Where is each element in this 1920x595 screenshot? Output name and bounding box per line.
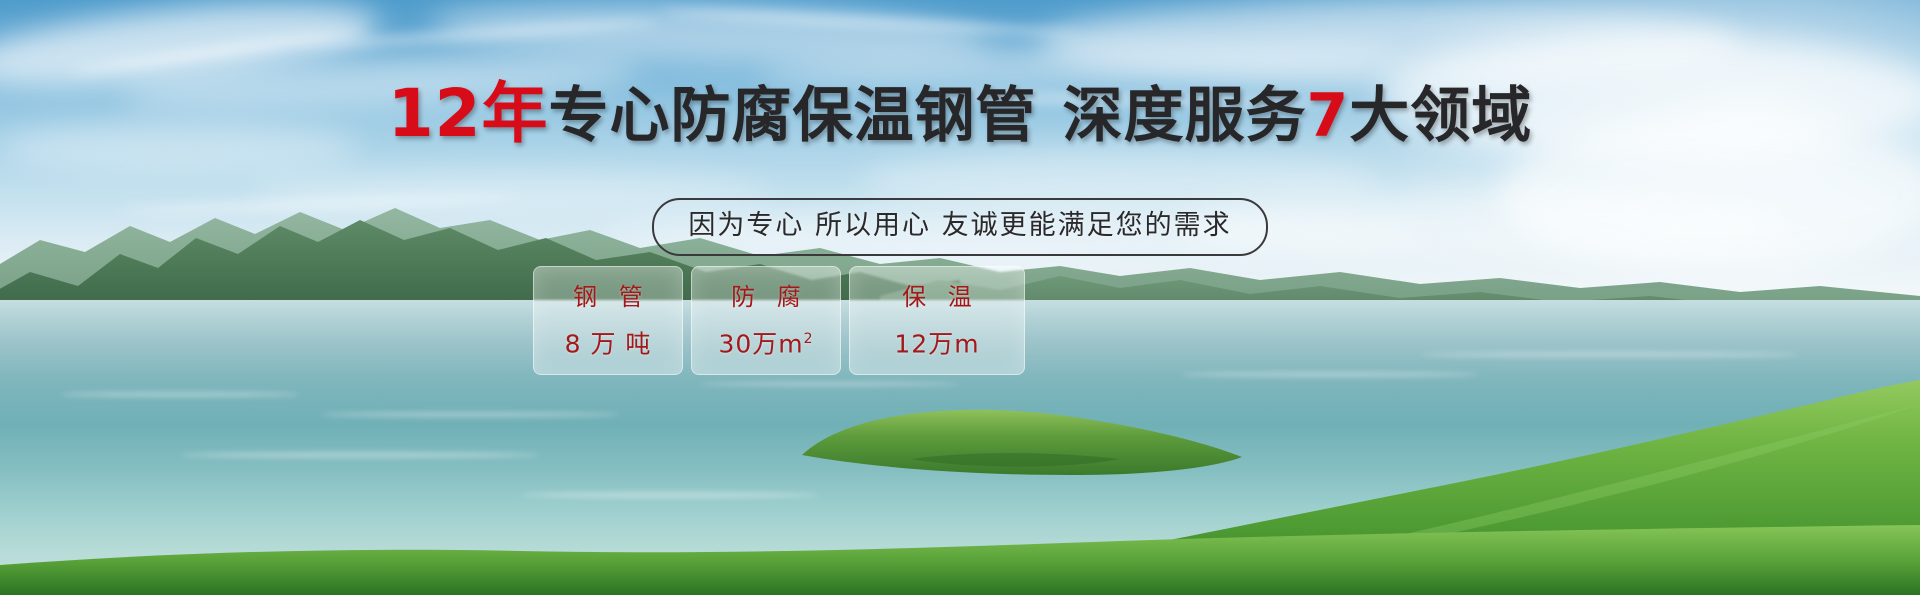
grass-foreground-icon	[0, 525, 1920, 595]
stat-card[interactable]: 钢 管 8 万 吨	[533, 266, 683, 375]
water-ripple	[1180, 372, 1480, 377]
water-ripple	[320, 412, 620, 417]
headline-years-number: 12	[388, 75, 482, 152]
stat-card-superscript: 2	[804, 331, 814, 347]
stat-card-value: 8 万 吨	[565, 324, 652, 359]
stat-card-title: 钢 管	[566, 282, 650, 312]
stat-card-value-text: 30万m	[718, 329, 803, 358]
stat-card-value: 30万m2	[718, 324, 813, 359]
water-ripple	[520, 492, 820, 498]
subtitle-container: 因为专心 所以用心 友诚更能满足您的需求	[0, 198, 1920, 256]
hero-banner: 12年专心防腐保温钢管深度服务7大领域 因为专心 所以用心 友诚更能满足您的需求…	[0, 0, 1920, 595]
stat-card[interactable]: 防 腐 30万m2	[691, 266, 841, 375]
stat-card-title: 保 温	[895, 282, 979, 312]
subtitle-pill: 因为专心 所以用心 友诚更能满足您的需求	[652, 198, 1267, 256]
water-ripple	[700, 382, 960, 386]
headline-fields-number: 7	[1307, 81, 1350, 151]
stat-card-value: 12万m	[894, 324, 979, 359]
stat-card-title: 防 腐	[724, 282, 808, 312]
stat-card-value-text: 12万m	[894, 329, 979, 358]
headline-part-three: 大领域	[1349, 81, 1532, 151]
water-ripple	[1420, 352, 1800, 357]
headline-years-unit: 年	[482, 75, 549, 152]
stat-card-group: 钢 管 8 万 吨 防 腐 30万m2 保 温 12万m	[533, 266, 1025, 375]
headline-part-two: 深度服务	[1063, 81, 1307, 151]
headline-part-one: 专心防腐保温钢管	[549, 81, 1037, 151]
water-ripple	[60, 392, 300, 397]
stat-card-value-text: 8 万 吨	[565, 329, 652, 358]
headline: 12年专心防腐保温钢管深度服务7大领域	[0, 78, 1920, 152]
stat-card[interactable]: 保 温 12万m	[849, 266, 1025, 375]
water-ripple	[180, 452, 540, 458]
